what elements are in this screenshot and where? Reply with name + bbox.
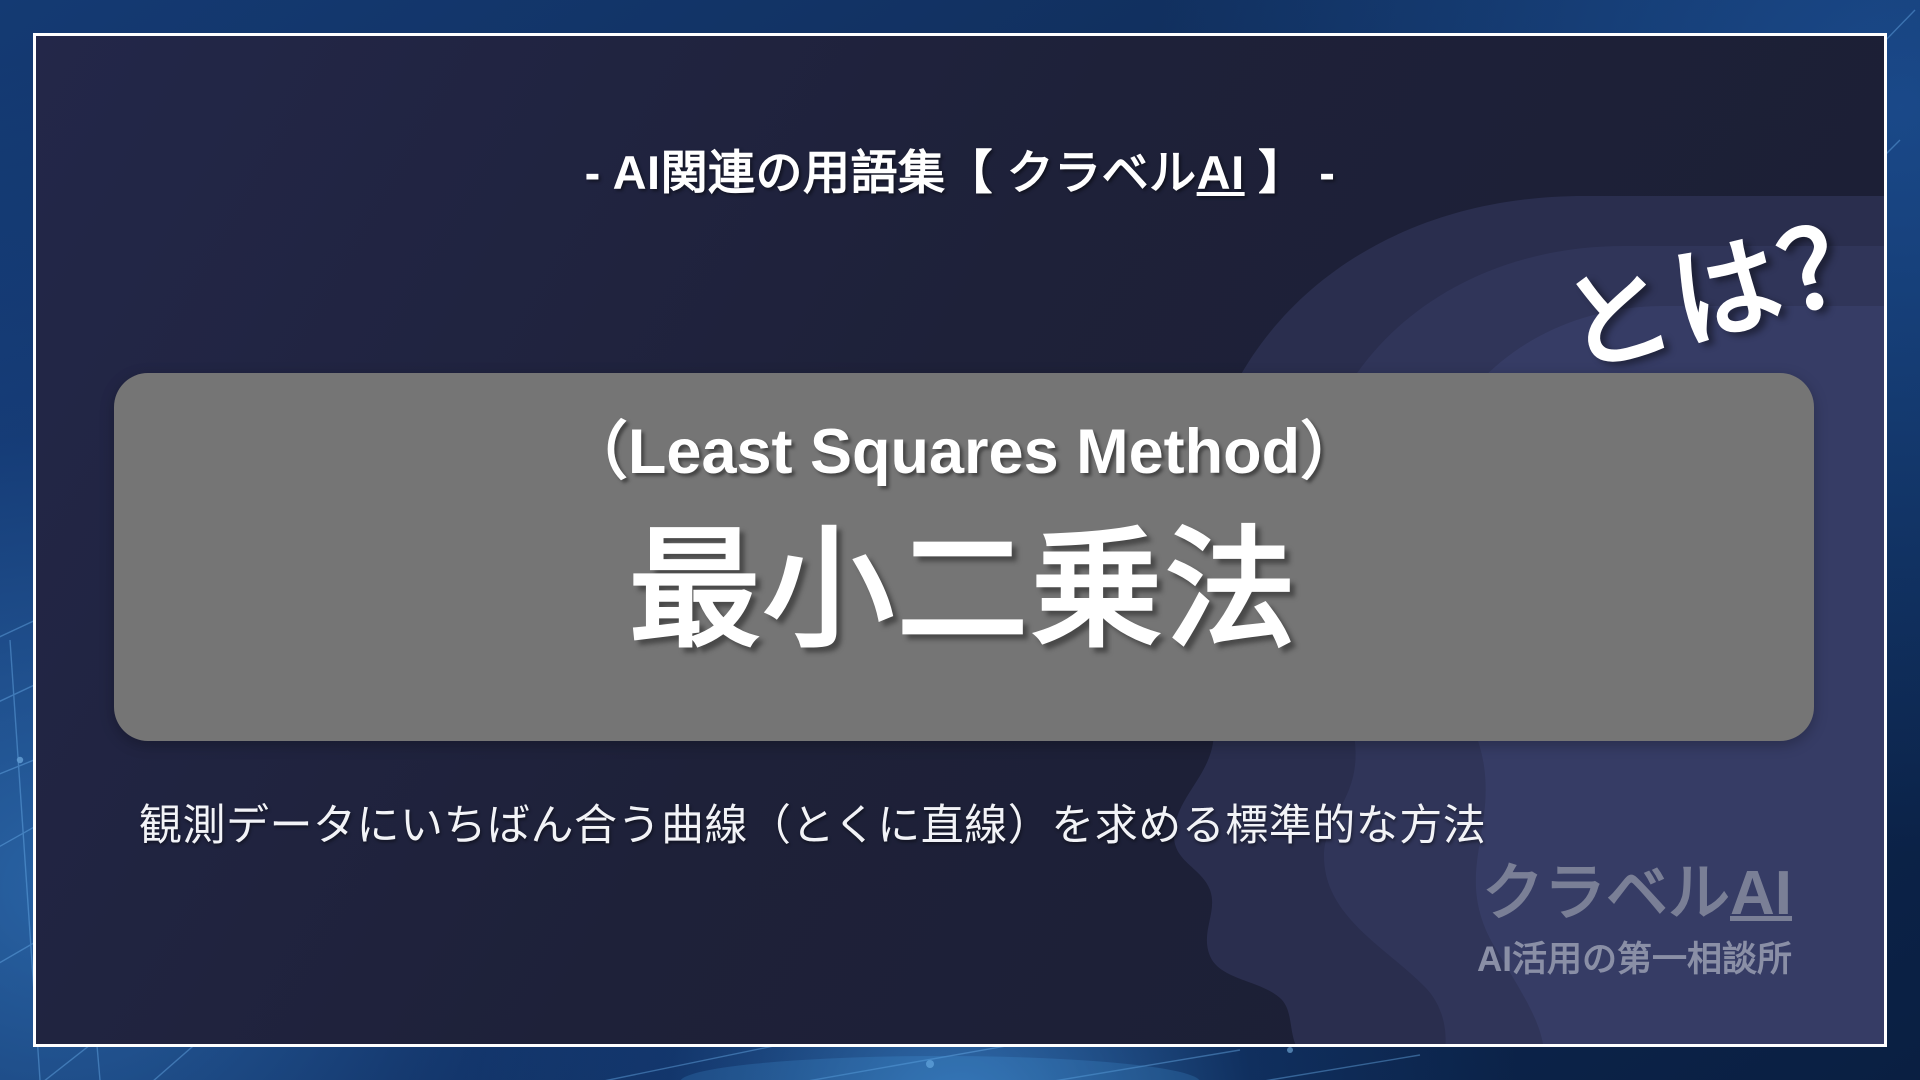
- term-english: （Least Squares Method）: [114, 401, 1814, 492]
- term-card: （Least Squares Method） 最小二乗法: [114, 373, 1814, 741]
- brand-logo: クラベルAI AI活用の第一相談所: [1477, 863, 1792, 982]
- title-text-b: 】: [1245, 146, 1306, 199]
- content-panel: - AI関連の用語集【 クラベルAI 】 - （Least Squares Me…: [33, 33, 1887, 1047]
- title-suffix: -: [1306, 146, 1336, 199]
- brand-name-ai-underlined: AI: [1730, 859, 1792, 928]
- title-prefix: -: [585, 146, 613, 199]
- term-japanese: 最小二乗法: [114, 483, 1814, 673]
- title-ai-underlined: AI: [1197, 146, 1245, 199]
- title-text-a: AI関連の用語集【 クラベル: [613, 146, 1197, 199]
- page-title: - AI関連の用語集【 クラベルAI 】 -: [36, 134, 1884, 203]
- brand-name: クラベルAI: [1477, 863, 1792, 925]
- slide-canvas: - AI関連の用語集【 クラベルAI 】 - （Least Squares Me…: [0, 0, 1920, 1080]
- brand-name-text: クラベル: [1482, 859, 1730, 928]
- brand-tagline: AI活用の第一相談所: [1477, 931, 1792, 982]
- term-description: 観測データにいちばん合う曲線（とくに直線）を求める標準的な方法: [139, 791, 1486, 853]
